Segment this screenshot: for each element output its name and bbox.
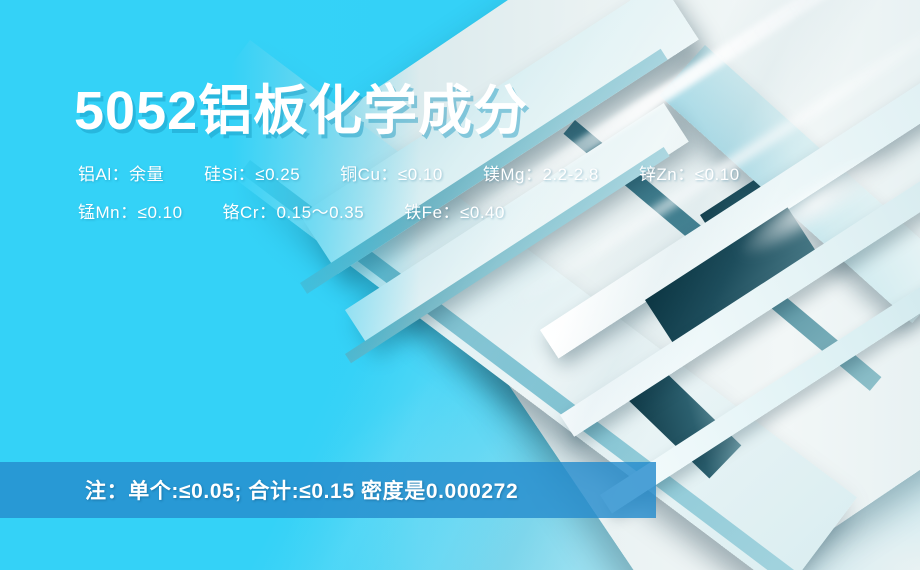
element-label-cu: 铜Cu： [340, 165, 398, 184]
composition-item-mg: 镁Mg：2.2-2.8 [483, 160, 599, 185]
element-label-fe: 铁Fe： [404, 203, 460, 222]
element-value-cu: ≤0.10 [398, 165, 443, 184]
element-value-mg: 2.2-2.8 [542, 165, 598, 184]
composition-item-cr: 铬Cr：0.15～0.35 [223, 198, 365, 223]
element-label-si: 硅Si： [204, 165, 255, 184]
element-label-mg: 镁Mg： [483, 165, 543, 184]
composition-row: 铝Al：余量 硅Si：≤0.25 铜Cu：≤0.10 镁Mg：2.2-2.8 锌… [78, 160, 780, 198]
composition-item-fe: 铁Fe：≤0.40 [404, 198, 505, 223]
note-bar: 注：单个:≤0.05; 合计:≤0.15 密度是0.000272 [0, 462, 656, 518]
element-value-mn: ≤0.10 [138, 203, 183, 222]
element-value-si: ≤0.25 [255, 165, 300, 184]
element-value-cr: 0.15～0.35 [277, 203, 365, 222]
composition-item-si: 硅Si：≤0.25 [204, 160, 300, 185]
composition-item-al: 铝Al：余量 [78, 160, 164, 185]
element-value-al: 余量 [129, 165, 164, 184]
element-label-zn: 锌Zn： [639, 165, 695, 184]
composition-spec-list: 铝Al：余量 硅Si：≤0.25 铜Cu：≤0.10 镁Mg：2.2-2.8 锌… [78, 160, 780, 236]
composition-item-zn: 锌Zn：≤0.10 [639, 160, 740, 185]
composition-item-cu: 铜Cu：≤0.10 [340, 160, 443, 185]
element-value-zn: ≤0.10 [695, 165, 740, 184]
aluminum-plate-banner: 5052铝板化学成分 铝Al：余量 硅Si：≤0.25 铜Cu：≤0.10 镁M… [0, 0, 920, 570]
element-label-al: 铝Al： [78, 165, 129, 184]
note-text: 注：单个:≤0.05; 合计:≤0.15 密度是0.000272 [85, 462, 518, 518]
element-value-fe: ≤0.40 [460, 203, 505, 222]
composition-row: 锰Mn：≤0.10 铬Cr：0.15～0.35 铁Fe：≤0.40 [78, 198, 780, 236]
composition-item-mn: 锰Mn：≤0.10 [78, 198, 183, 223]
page-title: 5052铝板化学成分 [74, 66, 528, 145]
element-label-cr: 铬Cr： [223, 203, 277, 222]
element-label-mn: 锰Mn： [78, 203, 138, 222]
